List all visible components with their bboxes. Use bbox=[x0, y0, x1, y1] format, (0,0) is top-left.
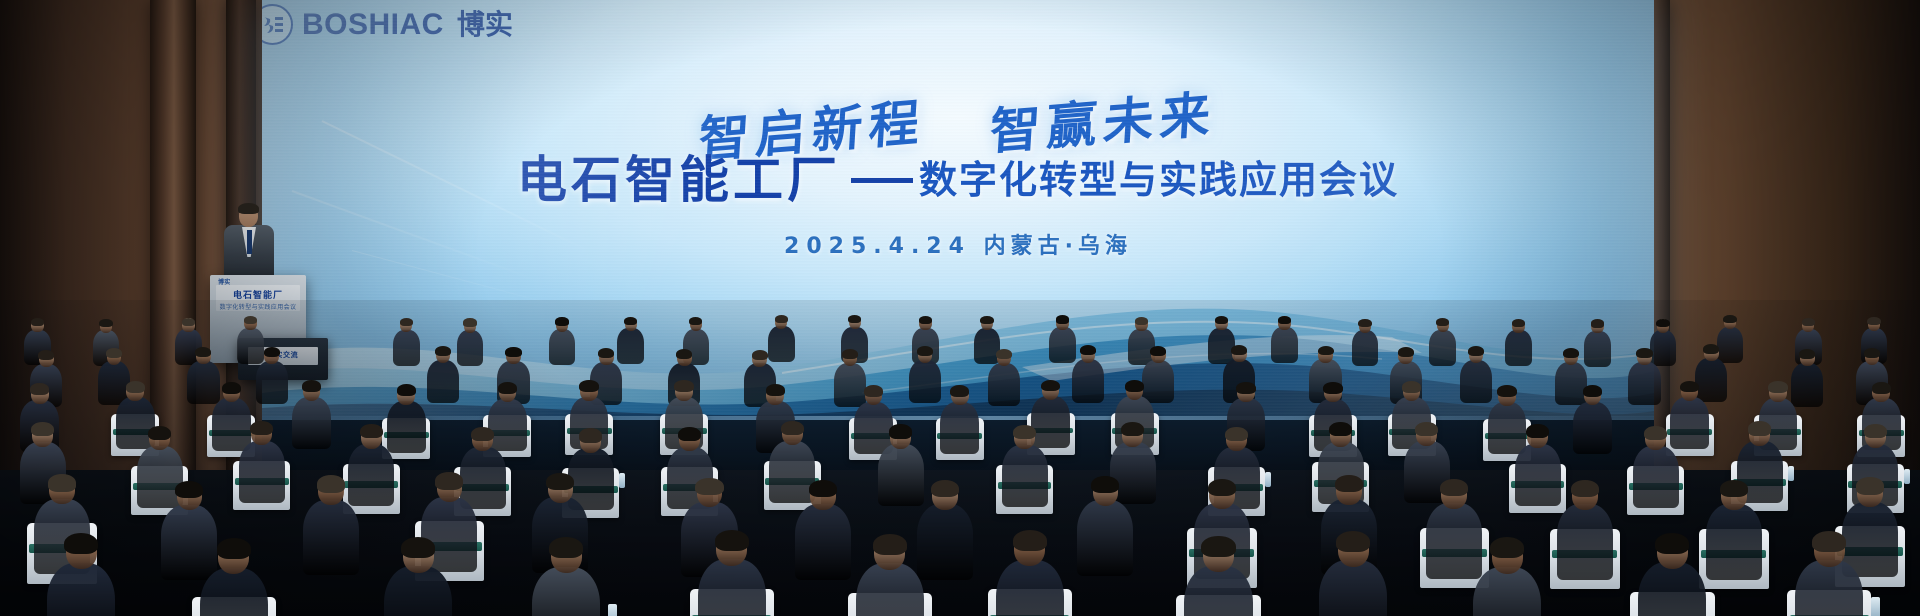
audience-member bbox=[1795, 533, 1863, 616]
audience-hair bbox=[1680, 381, 1699, 393]
audience-member bbox=[393, 319, 420, 368]
audience-body bbox=[303, 500, 359, 576]
audience-member bbox=[427, 347, 459, 407]
audience-member bbox=[239, 422, 285, 507]
audience-member bbox=[917, 482, 973, 586]
audience-member bbox=[1319, 533, 1387, 616]
audience-member bbox=[1002, 426, 1048, 511]
audience-member bbox=[1271, 316, 1298, 365]
event-title-sub: 数字化转型与实践应用会议 bbox=[919, 161, 1399, 199]
audience-hair bbox=[1236, 382, 1255, 394]
audience-hair bbox=[1490, 537, 1524, 558]
audience-hair bbox=[498, 382, 517, 394]
audience-hair bbox=[579, 428, 602, 442]
audience-body bbox=[1638, 562, 1706, 616]
audience-hair bbox=[250, 421, 273, 435]
audience-hair bbox=[1358, 319, 1371, 327]
audience-body bbox=[856, 563, 924, 616]
audience-body bbox=[909, 360, 941, 403]
audience-body bbox=[427, 360, 459, 403]
audience-hair bbox=[1208, 479, 1236, 496]
audience-hair bbox=[148, 426, 171, 440]
audience-member bbox=[47, 535, 115, 616]
audience-member bbox=[988, 350, 1020, 410]
audience-hair bbox=[781, 421, 804, 435]
audience-hair bbox=[1323, 382, 1342, 394]
event-dateline: 2025.4.24 内蒙古·乌海 bbox=[262, 228, 1654, 260]
water-bottle bbox=[1871, 597, 1880, 616]
audience-hair bbox=[1415, 422, 1438, 436]
audience-hair bbox=[546, 473, 574, 490]
audience-hair bbox=[752, 350, 768, 360]
audience-hair bbox=[1512, 319, 1525, 327]
audience-member bbox=[996, 532, 1064, 616]
audience-hair bbox=[435, 346, 451, 356]
audience-hair bbox=[1644, 426, 1667, 440]
audience-body bbox=[47, 563, 115, 616]
audience-hair bbox=[1655, 533, 1689, 554]
event-date: 2025.4.24 bbox=[784, 234, 971, 259]
audience-body bbox=[1319, 560, 1387, 616]
audience-hair bbox=[980, 316, 993, 324]
audience-hair bbox=[106, 348, 122, 358]
audience-hair bbox=[676, 349, 692, 359]
audience-hair bbox=[1436, 318, 1449, 326]
audience-hair bbox=[397, 384, 416, 396]
audience-body bbox=[1473, 567, 1541, 616]
audience-hair bbox=[1799, 349, 1815, 359]
audience-hair bbox=[1125, 380, 1144, 392]
audience-hair bbox=[1091, 476, 1119, 493]
audience-hair bbox=[1013, 425, 1036, 439]
speaker-tie bbox=[247, 230, 252, 254]
audience-body bbox=[384, 566, 452, 616]
audience-hair bbox=[1497, 385, 1516, 397]
conference-photo: BOSHIAC 博实 智启新程 智赢未来 电石智能工厂 数字化转型与实践应用会议… bbox=[0, 0, 1920, 616]
audience-hair bbox=[182, 318, 195, 326]
audience-member bbox=[292, 381, 331, 452]
audience-member bbox=[1557, 482, 1613, 586]
audience-member bbox=[1184, 538, 1252, 616]
audience-hair bbox=[766, 384, 785, 396]
audience-hair bbox=[1526, 424, 1549, 438]
audience-body bbox=[1429, 330, 1456, 366]
audience-hair bbox=[1013, 530, 1047, 551]
audience-hair bbox=[400, 318, 413, 326]
audience-hair bbox=[873, 534, 907, 555]
audience-member bbox=[1628, 349, 1660, 409]
audience-hair bbox=[217, 538, 251, 559]
audience-member bbox=[909, 347, 941, 407]
audience-body bbox=[1573, 402, 1612, 454]
audience-member bbox=[1638, 535, 1706, 616]
audience-body bbox=[200, 568, 268, 616]
audience-hair bbox=[1864, 348, 1880, 358]
slogan-part-2: 智赢未来 bbox=[988, 73, 1219, 164]
audience-hair bbox=[1150, 346, 1166, 356]
audience-hair bbox=[1468, 346, 1484, 356]
audience-body bbox=[1557, 504, 1613, 580]
audience-member bbox=[1352, 320, 1379, 369]
audience-hair bbox=[401, 537, 435, 558]
audience-member bbox=[1473, 540, 1541, 616]
audience-hair bbox=[864, 385, 883, 397]
audience-body bbox=[1271, 327, 1298, 363]
audience-hair bbox=[1440, 479, 1468, 496]
audience-hair bbox=[1571, 480, 1599, 497]
audience-body bbox=[1515, 444, 1561, 506]
audience-hair bbox=[1812, 531, 1846, 552]
audience-member bbox=[200, 540, 268, 616]
audience-hair bbox=[1636, 348, 1652, 358]
audience-member bbox=[856, 536, 924, 616]
audience-hair bbox=[674, 380, 693, 392]
audience-body bbox=[1184, 566, 1252, 616]
audience-hair bbox=[1135, 317, 1148, 325]
audience-member bbox=[256, 348, 288, 408]
logo-chinese-text: 博实 bbox=[457, 11, 513, 39]
audience-hair bbox=[222, 382, 241, 394]
audience-hair bbox=[1318, 346, 1334, 356]
audience-hair bbox=[695, 478, 723, 495]
audience-hair bbox=[1583, 385, 1602, 397]
audience-member bbox=[1505, 320, 1532, 369]
event-title-row: 电石智能工厂 数字化转型与实践应用会议 bbox=[262, 155, 1654, 205]
audience-hair bbox=[31, 422, 54, 436]
audience-body bbox=[1505, 330, 1532, 366]
audience-hair bbox=[931, 480, 959, 497]
audience-body bbox=[996, 560, 1064, 616]
water-bottle bbox=[1265, 472, 1271, 487]
title-dash-rule bbox=[851, 178, 913, 183]
audience-hair bbox=[889, 424, 912, 438]
audience-body bbox=[1352, 330, 1379, 366]
audience-hair bbox=[579, 380, 598, 392]
audience-hair bbox=[244, 316, 257, 324]
audience-hair bbox=[549, 537, 583, 558]
audience-hair bbox=[555, 317, 568, 325]
audience-body bbox=[1002, 445, 1048, 507]
audience-body bbox=[239, 441, 285, 503]
audience-body bbox=[549, 329, 576, 365]
water-bottle bbox=[608, 604, 617, 616]
audience-hair bbox=[1864, 424, 1887, 438]
boshiac-emblem-icon bbox=[262, 4, 293, 45]
audience-member bbox=[303, 477, 359, 581]
audience-member bbox=[1072, 346, 1104, 406]
logo-english-text: BOSHIAC bbox=[302, 10, 444, 40]
audience-hair bbox=[1872, 382, 1891, 394]
audience-hair bbox=[1080, 345, 1096, 355]
audience-member bbox=[940, 386, 979, 457]
audience-member bbox=[1515, 425, 1561, 510]
water-bottle bbox=[1788, 466, 1794, 481]
audience-hair bbox=[1768, 381, 1787, 393]
audience-hair bbox=[1398, 347, 1414, 357]
audience-body bbox=[795, 504, 851, 580]
audience-hair bbox=[1703, 344, 1719, 354]
audience-area bbox=[0, 300, 1920, 616]
audience-hair bbox=[1056, 315, 1069, 323]
audience-hair bbox=[1336, 531, 1370, 552]
audience-hair bbox=[99, 319, 112, 327]
audience-member bbox=[384, 539, 452, 616]
audience-hair bbox=[624, 317, 637, 325]
audience-body bbox=[698, 559, 766, 616]
audience-body bbox=[457, 330, 484, 366]
audience-member bbox=[698, 532, 766, 616]
audience-hair bbox=[809, 480, 837, 497]
audience-body bbox=[1077, 500, 1133, 576]
audience-body bbox=[256, 361, 288, 404]
audience-hair bbox=[1723, 315, 1736, 323]
audience-hair bbox=[1278, 316, 1291, 324]
audience-hair bbox=[950, 385, 969, 397]
audience-body bbox=[1628, 362, 1660, 405]
audience-body bbox=[1072, 359, 1104, 402]
audience-hair bbox=[1402, 381, 1421, 393]
audience-hair bbox=[30, 383, 49, 395]
audience-hair bbox=[471, 427, 494, 441]
audience-hair bbox=[1867, 317, 1880, 325]
audience-body bbox=[1706, 504, 1762, 580]
audience-hair bbox=[1656, 319, 1669, 327]
audience-body bbox=[940, 402, 979, 454]
audience-hair bbox=[1231, 345, 1247, 355]
audience-hair bbox=[1225, 427, 1248, 441]
audience-member bbox=[795, 482, 851, 586]
audience-hair bbox=[1041, 380, 1060, 392]
audience-member bbox=[1706, 482, 1762, 586]
audience-hair bbox=[1329, 422, 1352, 436]
audience-hair bbox=[1720, 480, 1748, 497]
audience-hair bbox=[302, 380, 321, 392]
audience-body bbox=[292, 397, 331, 449]
audience-body bbox=[532, 567, 600, 616]
audience-hair bbox=[598, 348, 614, 358]
audience-hair bbox=[1856, 477, 1884, 494]
audience-hair bbox=[126, 381, 145, 393]
audience-member bbox=[1584, 320, 1611, 369]
water-bottle bbox=[1904, 469, 1910, 484]
audience-member bbox=[1077, 477, 1133, 581]
audience-hair bbox=[64, 533, 98, 554]
audience-body bbox=[393, 330, 420, 366]
audience-hair bbox=[848, 315, 861, 323]
audience-member bbox=[1429, 319, 1456, 368]
audience-hair bbox=[317, 475, 345, 492]
water-bottle bbox=[619, 473, 625, 488]
audience-hair bbox=[435, 472, 463, 489]
audience-hair bbox=[264, 347, 280, 357]
audience-hair bbox=[715, 530, 749, 551]
audience-hair bbox=[175, 481, 203, 498]
audience-hair bbox=[360, 424, 383, 438]
audience-hair bbox=[1591, 319, 1604, 327]
audience-hair bbox=[775, 315, 788, 323]
audience-body bbox=[917, 504, 973, 580]
audience-hair bbox=[1215, 316, 1228, 324]
audience-hair bbox=[463, 318, 476, 326]
audience-hair bbox=[1563, 348, 1579, 358]
audience-hair bbox=[195, 347, 211, 357]
audience-hair bbox=[505, 347, 521, 357]
boshiac-logo: BOSHIAC 博实 bbox=[262, 4, 513, 45]
audience-hair bbox=[31, 318, 44, 326]
audience-hair bbox=[678, 427, 701, 441]
audience-hair bbox=[689, 317, 702, 325]
audience-hair bbox=[1121, 422, 1144, 436]
audience-member bbox=[457, 319, 484, 368]
audience-hair bbox=[917, 346, 933, 356]
audience-body bbox=[1795, 560, 1863, 616]
audience-body bbox=[988, 363, 1020, 406]
speaker-hair bbox=[238, 203, 259, 214]
event-title-main: 电石智能工厂 bbox=[517, 155, 841, 205]
slogan-gap bbox=[939, 143, 973, 144]
audience-hair bbox=[1802, 318, 1815, 326]
audience-hair bbox=[1201, 536, 1235, 557]
audience-body bbox=[1584, 331, 1611, 367]
event-location: 内蒙古·乌海 bbox=[984, 234, 1132, 259]
audience-hair bbox=[48, 474, 76, 491]
audience-hair bbox=[842, 349, 858, 359]
audience-body bbox=[1633, 446, 1679, 508]
audience-hair bbox=[1335, 475, 1363, 492]
speaker-figure bbox=[222, 205, 276, 281]
audience-member bbox=[532, 539, 600, 616]
audience-member bbox=[1573, 386, 1612, 457]
audience-hair bbox=[996, 349, 1012, 359]
audience-hair bbox=[919, 316, 932, 324]
audience-member bbox=[1633, 427, 1679, 512]
audience-member bbox=[549, 318, 576, 367]
audience-hair bbox=[1748, 421, 1771, 435]
audience-hair bbox=[38, 350, 54, 360]
